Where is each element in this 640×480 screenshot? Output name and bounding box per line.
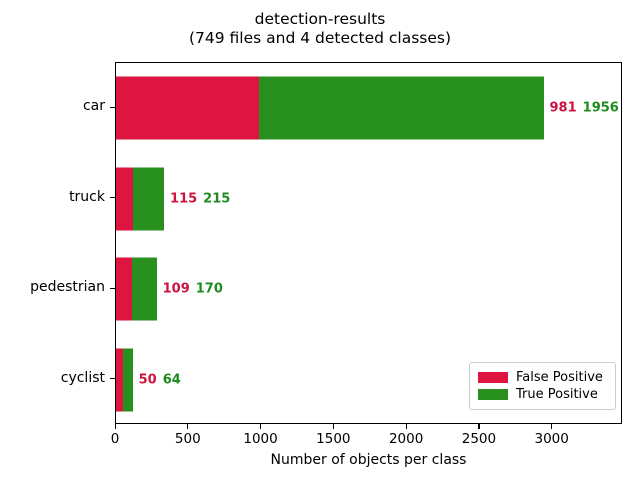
x-tick-label-500: 500 [175,431,201,447]
legend-swatch-false-positive [478,372,508,383]
chart-title-block: detection-results (749 files and 4 detec… [0,10,640,49]
bar-row: 109170 [116,244,621,335]
bar-label-true-positive: 170 [196,282,223,297]
bar-label-false-positive: 981 [550,101,577,116]
bar-label-false-positive: 109 [163,282,190,297]
y-tick-label-cyclist: cyclist [61,370,105,386]
x-tick-label-0: 0 [111,431,120,447]
x-tick-mark [478,424,479,429]
bar-segment-false-positive[interactable] [116,348,123,411]
legend-label-true-positive: True Positive [516,387,598,402]
y-tick-label-truck: truck [69,189,105,205]
y-tick-label-pedestrian: pedestrian [30,279,105,295]
bar-label-true-positive: 215 [203,191,230,206]
bar-segment-true-positive[interactable] [123,348,132,411]
x-tick-label-1000: 1000 [243,431,277,447]
legend-swatch-true-positive [478,389,508,400]
bar-segment-true-positive[interactable] [133,167,164,230]
chart-figure: detection-results (749 files and 4 detec… [0,0,640,480]
bar-value-labels: 115215 [170,191,230,206]
x-tick-label-2000: 2000 [389,431,423,447]
bar-label-false-positive: 50 [139,372,157,387]
x-tick-mark [551,424,552,429]
x-tick-label-1500: 1500 [316,431,350,447]
legend-label-false-positive: False Positive [516,370,603,385]
bar-label-true-positive: 64 [163,372,181,387]
bar-segment-false-positive[interactable] [116,77,259,140]
bar-row: 115215 [116,154,621,245]
x-axis-title: Number of objects per class [115,452,622,468]
x-tick-mark [115,424,116,429]
chart-title: detection-results [0,10,640,29]
x-tick-mark [187,424,188,429]
bar-label-false-positive: 115 [170,191,197,206]
stacked-bar[interactable] [116,258,157,321]
bar-label-true-positive: 1956 [583,101,619,116]
bar-row: 9811956 [116,63,621,154]
bar-segment-true-positive[interactable] [132,258,157,321]
chart-subtitle: (749 files and 4 detected classes) [0,29,640,48]
chart-legend[interactable]: False Positive True Positive [469,362,616,410]
stacked-bar[interactable] [116,348,133,411]
bar-value-labels: 5064 [139,372,181,387]
legend-item-true-positive[interactable]: True Positive [478,386,607,403]
x-tick-mark [333,424,334,429]
bar-segment-true-positive[interactable] [259,77,544,140]
y-tick-label-car: car [83,98,105,114]
x-tick-label-2500: 2500 [462,431,496,447]
x-tick-label-3000: 3000 [535,431,569,447]
bar-value-labels: 109170 [163,282,223,297]
bar-value-labels: 9811956 [550,101,619,116]
x-tick-mark [406,424,407,429]
bar-segment-false-positive[interactable] [116,167,133,230]
bar-segment-false-positive[interactable] [116,258,132,321]
stacked-bar[interactable] [116,77,544,140]
stacked-bar[interactable] [116,167,164,230]
legend-item-false-positive[interactable]: False Positive [478,369,607,386]
x-tick-mark [260,424,261,429]
